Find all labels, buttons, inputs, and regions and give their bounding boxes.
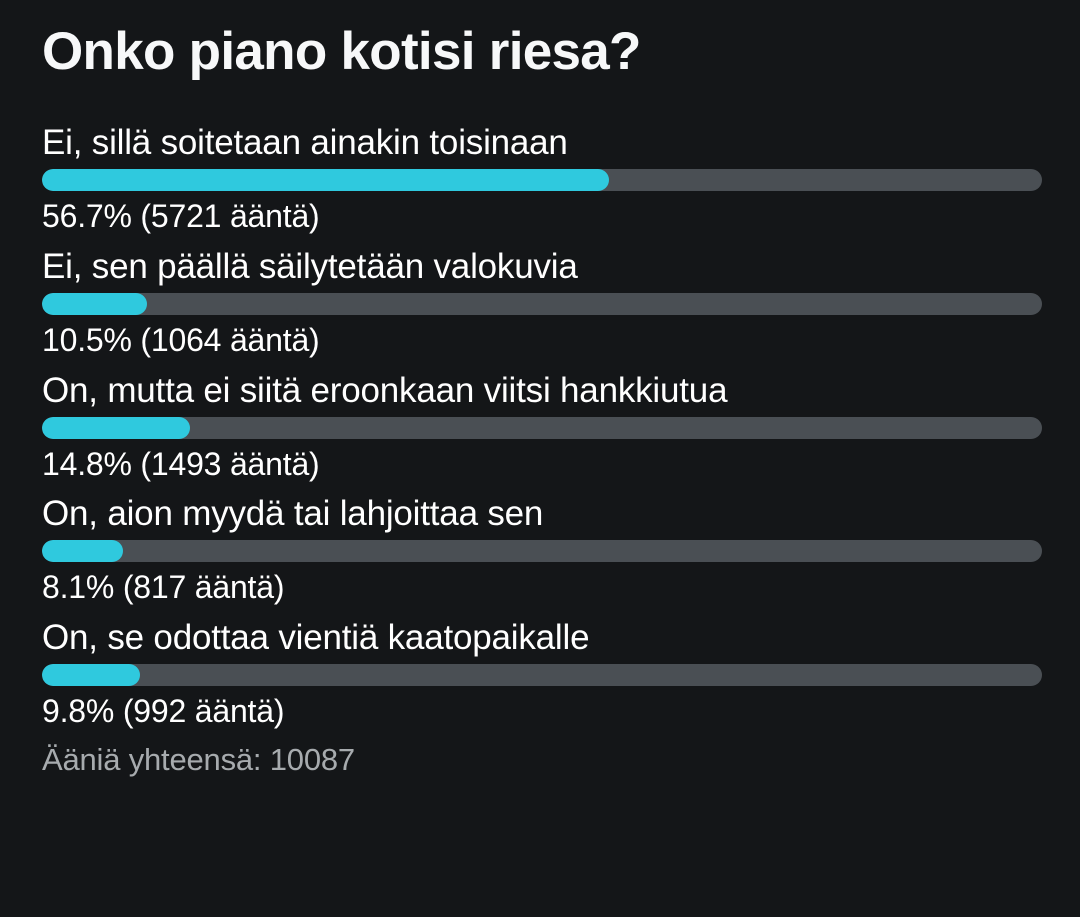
- poll-option-bar-fill: [42, 293, 147, 315]
- poll-option-label: On, mutta ei siitä eroonkaan viitsi hank…: [42, 371, 1040, 411]
- poll-option-stats: 56.7% (5721 ääntä): [42, 198, 1040, 235]
- poll-option-label: On, se odottaa vientiä kaatopaikalle: [42, 618, 1040, 658]
- poll-option-bar-track: [42, 417, 1042, 439]
- poll-total-votes: Ääniä yhteensä: 10087: [42, 742, 1040, 778]
- poll-option-bar-fill: [42, 540, 123, 562]
- poll-option[interactable]: On, se odottaa vientiä kaatopaikalle 9.8…: [42, 618, 1040, 730]
- poll-option-bar-track: [42, 169, 1042, 191]
- poll-option-stats: 9.8% (992 ääntä): [42, 693, 1040, 730]
- poll-option-bar-track: [42, 540, 1042, 562]
- poll-option-label: Ei, sillä soitetaan ainakin toisinaan: [42, 123, 1040, 163]
- poll-option-bar-fill: [42, 664, 140, 686]
- poll-option-stats: 8.1% (817 ääntä): [42, 569, 1040, 606]
- poll-option-list: Ei, sillä soitetaan ainakin toisinaan 56…: [42, 123, 1040, 729]
- poll-option-label: Ei, sen päällä säilytetään valokuvia: [42, 247, 1040, 287]
- page-title: Onko piano kotisi riesa?: [42, 0, 1040, 81]
- poll-option-bar-fill: [42, 169, 609, 191]
- poll-option-bar-track: [42, 664, 1042, 686]
- poll-option-stats: 14.8% (1493 ääntä): [42, 446, 1040, 483]
- poll-option[interactable]: On, aion myydä tai lahjoittaa sen 8.1% (…: [42, 494, 1040, 606]
- poll-option[interactable]: Ei, sen päällä säilytetään valokuvia 10.…: [42, 247, 1040, 359]
- poll-results-widget: Onko piano kotisi riesa? Ei, sillä soite…: [0, 0, 1080, 917]
- poll-option-bar-fill: [42, 417, 190, 439]
- poll-option-stats: 10.5% (1064 ääntä): [42, 322, 1040, 359]
- poll-option-label: On, aion myydä tai lahjoittaa sen: [42, 494, 1040, 534]
- poll-option-bar-track: [42, 293, 1042, 315]
- poll-option[interactable]: On, mutta ei siitä eroonkaan viitsi hank…: [42, 371, 1040, 483]
- poll-option[interactable]: Ei, sillä soitetaan ainakin toisinaan 56…: [42, 123, 1040, 235]
